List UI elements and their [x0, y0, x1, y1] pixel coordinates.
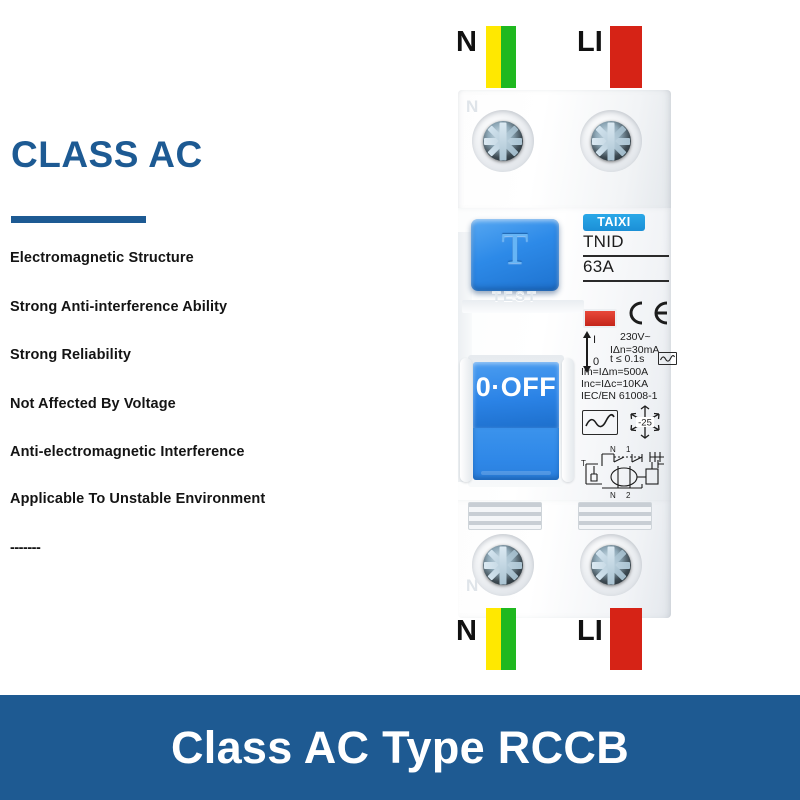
feature-item: Strong Reliability: [10, 347, 131, 363]
wire-neutral-green-top: [501, 26, 516, 88]
voltage-spec: 230V~: [620, 331, 651, 343]
vent-left: [468, 502, 542, 530]
ce-mark-icon: [625, 300, 671, 326]
wire-line-red-top: [610, 26, 642, 88]
schematic-label-in-l: 1: [626, 445, 631, 454]
switch-position-label: 0·OFF: [473, 374, 559, 401]
feature-item: Applicable To Unstable Environment: [10, 491, 265, 507]
test-button[interactable]: T: [471, 219, 559, 291]
ac-waveform-small-icon: [658, 352, 677, 365]
terminal-mark-bottom-neutral: N: [466, 576, 478, 596]
wire-neutral-yellow-top: [486, 26, 501, 88]
status-indicator-window: [583, 309, 617, 328]
terminal-screw-top-line[interactable]: [591, 121, 631, 161]
schematic-label-out-n: N: [610, 491, 616, 500]
switch-lever[interactable]: 0·OFF: [473, 362, 559, 428]
wire-label-neutral-top: N: [456, 28, 477, 57]
feature-item: Strong Anti-interference Ability: [10, 299, 227, 315]
model-name: TNID: [583, 233, 624, 252]
page-title: CLASS AC: [11, 136, 203, 173]
wire-neutral-yellow-bottom: [486, 608, 501, 670]
wire-label-neutral-bottom: N: [456, 617, 477, 646]
bottom-banner: Class AC Type RCCB: [0, 695, 800, 800]
test-button-glyph: T: [471, 227, 559, 271]
terminal-screw-top-neutral[interactable]: [483, 121, 523, 161]
schematic-label-out-l: 2: [626, 491, 631, 500]
current-rating: 63A: [583, 258, 614, 277]
wire-label-line-top: LI: [577, 28, 603, 57]
terminal-screw-bottom-neutral[interactable]: [483, 545, 523, 585]
low-temperature-value: -25: [638, 418, 652, 429]
making-capacity-spec: Im=IΔm=500A: [581, 366, 648, 378]
feature-panel: CLASS AC Electromagnetic StructureStrong…: [0, 0, 430, 690]
switch-side-left: [460, 358, 472, 482]
feature-item: Not Affected By Voltage: [10, 396, 176, 412]
schematic-label-test: T: [581, 459, 586, 468]
terminal-mark-top-neutral: N: [466, 97, 478, 117]
wiring-schematic-icon: N 1 N 2 T: [580, 444, 674, 500]
switch-lever-base[interactable]: [473, 428, 559, 480]
wire-label-line-bottom: LI: [577, 617, 603, 646]
brand-badge: TAIXI: [583, 214, 645, 231]
switch-side-right: [562, 358, 574, 482]
heading-divider: [11, 216, 146, 223]
feature-item: Anti-electromagnetic Interference: [10, 444, 245, 460]
feature-trailing-dashes: -------: [10, 540, 40, 556]
banner-title: Class AC Type RCCB: [0, 695, 800, 800]
test-button-caption: TEST: [471, 288, 559, 305]
state-on-label: I: [593, 329, 599, 351]
schematic-label-in-n: N: [610, 445, 616, 454]
short-circuit-spec: Inc=IΔc=10KA: [581, 378, 648, 390]
wire-line-red-bottom: [610, 608, 642, 670]
terminal-screw-bottom-line[interactable]: [591, 545, 631, 585]
product-illustration: N LI N T TEST 0·OFF TAIXI TNID 63A: [440, 0, 690, 690]
brand-name: TAIXI: [583, 215, 645, 230]
feature-item: Electromagnetic Structure: [10, 250, 194, 266]
label-rule-2: [583, 280, 669, 282]
ac-waveform-icon: [582, 410, 618, 435]
vent-right: [578, 502, 652, 530]
trip-time-spec: t ≤ 0.1s: [610, 353, 644, 365]
product-label: TAIXI TNID 63A I 0 230V~ IΔn=30mA t ≤ 0.…: [580, 212, 674, 500]
low-temperature-icon: -25: [624, 404, 666, 440]
standard-spec: IEC/EN 61008-1: [581, 390, 657, 402]
wire-neutral-green-bottom: [501, 608, 516, 670]
